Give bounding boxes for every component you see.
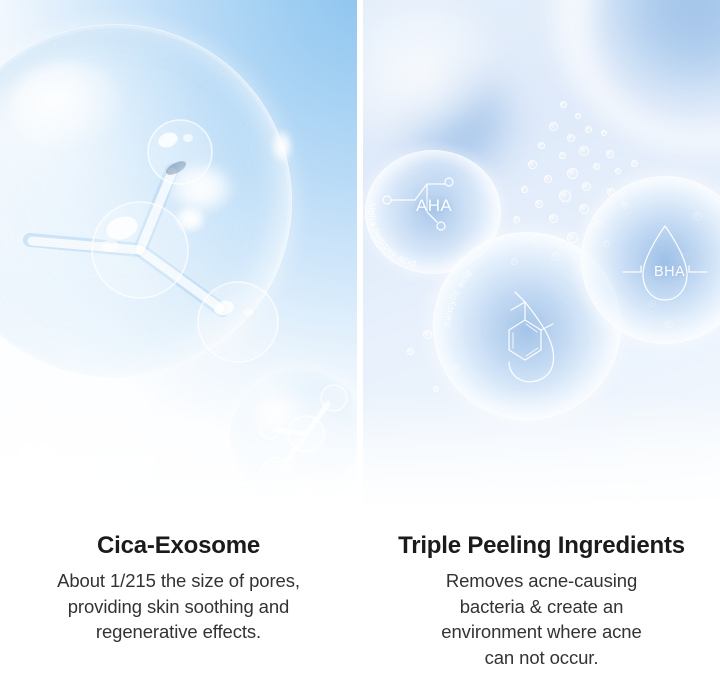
triple-peeling-body: Removes acne-causing bacteria & create a… — [363, 559, 720, 670]
image-panels: AHA Alpha hydroxy acid Salicylic ac — [0, 0, 720, 512]
body-line: bacteria & create an — [371, 594, 712, 620]
caption-triple-peeling: Triple Peeling Ingredients Removes acne-… — [363, 512, 720, 678]
cica-exosome-heading: Cica-Exosome — [0, 512, 357, 559]
caption-row: Cica-Exosome About 1/215 the size of por… — [0, 512, 720, 678]
molecule-large-icon — [0, 60, 310, 360]
bubble-light-spot — [175, 206, 205, 232]
body-line: environment where acne — [371, 619, 712, 645]
salicylic-arc-text: Salicylic acid — [442, 268, 474, 328]
panel-image-triple-peeling: AHA Alpha hydroxy acid Salicylic ac — [363, 0, 720, 512]
small-bubble-glow — [268, 470, 340, 510]
cica-exosome-body: About 1/215 the size of pores, providing… — [0, 559, 357, 645]
bha-arc-label: Beta hydroxy acid — [579, 174, 720, 354]
panel-image-cica-exosome — [0, 0, 357, 512]
bubble-light-spot — [272, 130, 292, 162]
product-feature-banner: AHA Alpha hydroxy acid Salicylic ac — [0, 0, 720, 678]
triple-peeling-heading: Triple Peeling Ingredients — [363, 512, 720, 559]
aha-arc-text: Alpha hydroxy acid — [367, 201, 417, 269]
body-line: regenerative effects. — [8, 619, 349, 645]
body-line: About 1/215 the size of pores, — [8, 568, 349, 594]
body-line: can not occur. — [371, 645, 712, 671]
svg-text:Salicylic acid: Salicylic acid — [442, 268, 474, 328]
bubble-light-spot — [168, 162, 234, 214]
body-line: Removes acne-causing — [371, 568, 712, 594]
caption-cica-exosome: Cica-Exosome About 1/215 the size of por… — [0, 512, 357, 678]
body-line: providing skin soothing and — [8, 594, 349, 620]
svg-text:Alpha hydroxy acid: Alpha hydroxy acid — [367, 201, 417, 269]
